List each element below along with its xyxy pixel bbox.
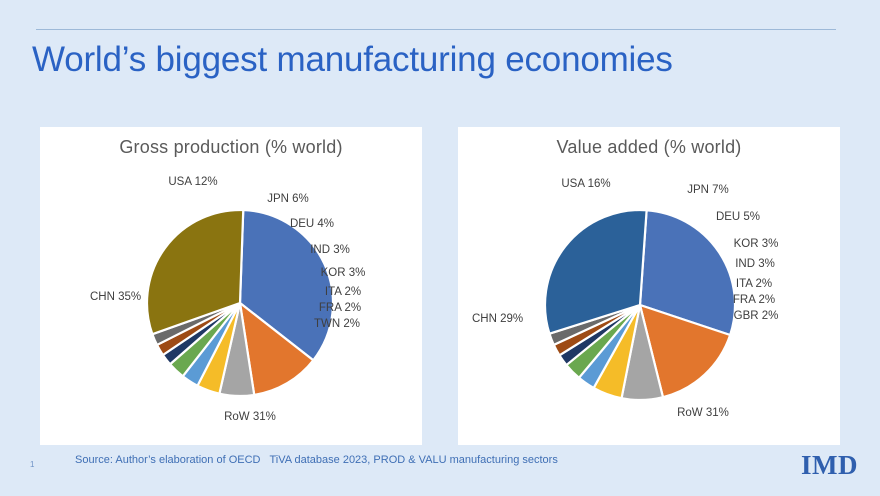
pie-label-jpn: JPN 7% (687, 184, 729, 196)
pie-label-deu: DEU 4% (290, 218, 334, 230)
pie-label-usa: USA 16% (561, 178, 610, 190)
pie-label-twn: TWN 2% (314, 318, 360, 330)
pie-label-ita: ITA 2% (736, 278, 772, 290)
pie-label-fra: FRA 2% (319, 302, 361, 314)
slide-canvas: World’s biggest manufacturing economies … (0, 0, 880, 496)
page-number: 1 (30, 460, 34, 469)
page-title: World’s biggest manufacturing economies (32, 38, 832, 82)
pie-label-chn: CHN 29% (472, 313, 523, 325)
pie-label-ind: IND 3% (735, 258, 775, 270)
chart-panel-value-added: Value added (% world) CHN 29%USA 16%JPN … (458, 127, 840, 445)
imd-logo: IMD (801, 450, 858, 481)
pie-label-row: RoW 31% (677, 407, 729, 419)
title-divider-rule (36, 29, 836, 30)
source-note: Source: Author’s elaboration of OECD TiV… (75, 454, 558, 466)
pie-label-kor: KOR 3% (734, 238, 779, 250)
pie-label-ita: ITA 2% (325, 286, 361, 298)
pie-label-deu: DEU 5% (716, 211, 760, 223)
pie-label-ind: IND 3% (310, 244, 350, 256)
pie-label-gbr: GBR 2% (734, 310, 779, 322)
pie-label-chn: CHN 35% (90, 291, 141, 303)
chart-panel-gross-production: Gross production (% world) CHN 35%USA 12… (40, 127, 422, 445)
pie-label-row: RoW 31% (224, 411, 276, 423)
pie-chart-value-added: CHN 29%USA 16%JPN 7%DEU 5%KOR 3%IND 3%IT… (458, 127, 840, 445)
pie-chart-gross-production: CHN 35%USA 12%JPN 6%DEU 4%IND 3%KOR 3%IT… (40, 127, 422, 445)
pie-label-usa: USA 12% (168, 176, 217, 188)
pie-label-jpn: JPN 6% (267, 193, 309, 205)
pie-label-fra: FRA 2% (733, 294, 775, 306)
pie-label-kor: KOR 3% (321, 267, 366, 279)
